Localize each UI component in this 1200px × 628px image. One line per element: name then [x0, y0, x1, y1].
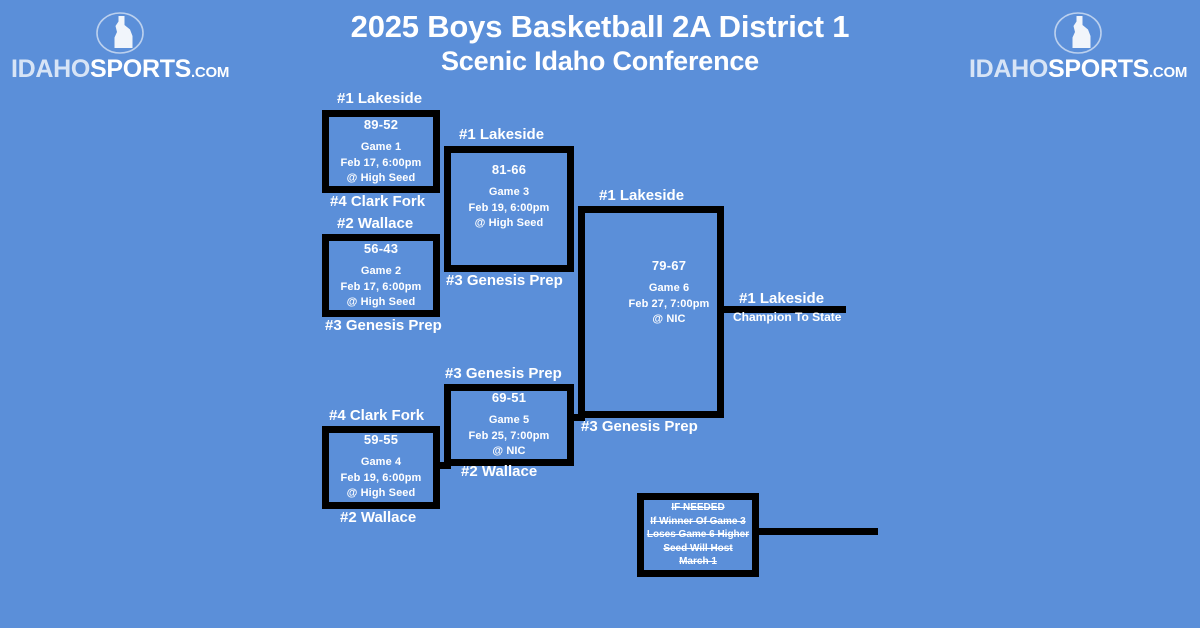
game1-name: Game 1: [322, 140, 440, 156]
game2-bottom-team-label: #3 Genesis Prep: [325, 318, 442, 333]
game5-name: Game 5: [444, 413, 574, 429]
game4-site: @ High Seed: [322, 486, 440, 502]
game5-advance-connector: [567, 384, 574, 466]
if-needed-line-4: Seed Will Host: [637, 542, 759, 556]
game2-info: 56-43 Game 2 Feb 17, 6:00pm @ High Seed: [322, 242, 440, 311]
if-needed-line-3: Loses Game 6 Higher: [637, 528, 759, 542]
champion-team-label: #1 Lakeside: [739, 291, 824, 306]
game4-bottom-team-label: #2 Wallace: [340, 510, 416, 525]
logo-word-idaho: IDAHO: [969, 55, 1048, 83]
game4-datetime: Feb 19, 6:00pm: [322, 471, 440, 487]
if-needed-note: IF NEEDED If Winner Of Game 3 Loses Game…: [637, 501, 759, 569]
logo-wordmark: IDAHOSPORTS.COM: [11, 57, 229, 82]
logo-word-sports: SPORTS: [1048, 55, 1149, 83]
game5-to-final-line: [567, 414, 585, 421]
game3-bottom-team-label: #3 Genesis Prep: [446, 273, 563, 288]
game3-datetime: Feb 19, 6:00pm: [444, 201, 574, 217]
game5-bottom-team-label: #2 Wallace: [461, 464, 537, 479]
game2-score: 56-43: [322, 242, 440, 255]
logo-idahosports-left[interactable]: IDAHOSPORTS.COM: [20, 10, 220, 90]
game3-info: 81-66 Game 3 Feb 19, 6:00pm @ High Seed: [444, 163, 574, 232]
logo-word-idaho: IDAHO: [11, 55, 90, 83]
game3-name: Game 3: [444, 185, 574, 201]
if-needed-line-5: March 1: [637, 555, 759, 569]
game6-top-team-label: #1 Lakeside: [599, 188, 684, 203]
game5-info: 69-51 Game 5 Feb 25, 7:00pm @ NIC: [444, 391, 574, 460]
champion-note-label: Champion To State: [733, 311, 841, 323]
game2-datetime: Feb 17, 6:00pm: [322, 280, 440, 296]
logo-idahosports-right[interactable]: IDAHOSPORTS.COM: [978, 10, 1178, 90]
game2-name: Game 2: [322, 264, 440, 280]
game5-score: 69-51: [444, 391, 574, 404]
game1-score: 89-52: [322, 118, 440, 131]
game2-site: @ High Seed: [322, 295, 440, 311]
page-title: 2025 Boys Basketball 2A District 1 Sceni…: [240, 9, 960, 78]
game1-datetime: Feb 17, 6:00pm: [322, 156, 440, 172]
if-needed-extend-line: [752, 528, 878, 535]
game1-info: 89-52 Game 1 Feb 17, 6:00pm @ High Seed: [322, 118, 440, 187]
game1-top-team-label: #1 Lakeside: [337, 91, 422, 106]
game4-name: Game 4: [322, 455, 440, 471]
logo-word-com: .COM: [1149, 64, 1187, 81]
if-needed-line-1: IF NEEDED: [637, 501, 759, 515]
game5-datetime: Feb 25, 7:00pm: [444, 429, 574, 445]
logo-word-sports: SPORTS: [90, 55, 191, 83]
game4-score: 59-55: [322, 433, 440, 446]
title-line-1: 2025 Boys Basketball 2A District 1: [240, 9, 960, 45]
if-needed-line-2: If Winner Of Game 3: [637, 515, 759, 529]
idaho-state-outline-icon: [1052, 10, 1104, 56]
game1-advance-connector: [433, 110, 440, 193]
game3-advance-connector: [567, 146, 574, 272]
game4-top-team-label: #4 Clark Fork: [329, 408, 424, 423]
game1-site: @ High Seed: [322, 171, 440, 187]
game2-advance-connector: [433, 234, 440, 317]
game3-top-team-label: #1 Lakeside: [459, 127, 544, 142]
game3-site: @ High Seed: [444, 216, 574, 232]
title-line-2: Scenic Idaho Conference: [240, 45, 960, 77]
game1-bottom-team-label: #4 Clark Fork: [330, 194, 425, 209]
logo-wordmark: IDAHOSPORTS.COM: [969, 57, 1187, 82]
game3-score: 81-66: [444, 163, 574, 176]
if-needed-right-connector: [752, 493, 759, 577]
game2-top-team-label: #2 Wallace: [337, 216, 413, 231]
idaho-state-outline-icon: [94, 10, 146, 56]
game5-site: @ NIC: [444, 444, 574, 460]
game4-to-game5-line: [433, 462, 451, 469]
game4-info: 59-55 Game 4 Feb 19, 6:00pm @ High Seed: [322, 433, 440, 502]
game6-bottom-team-label: #3 Genesis Prep: [581, 419, 698, 434]
logo-word-com: .COM: [191, 64, 229, 81]
game5-top-team-label: #3 Genesis Prep: [445, 366, 562, 381]
